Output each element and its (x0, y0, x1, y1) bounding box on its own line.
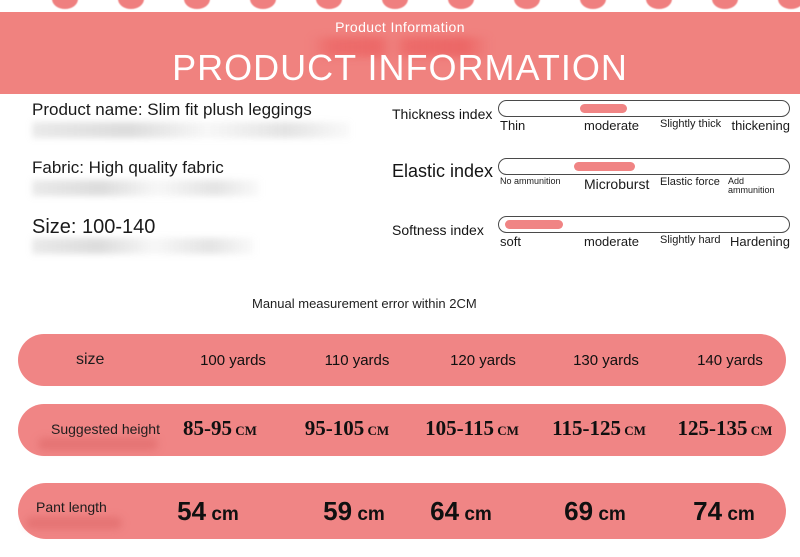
size-table-row-label: size (76, 351, 104, 369)
size-table-row-label: Pant length (36, 499, 107, 515)
size-table-cell-value: 115-125 (552, 416, 621, 440)
index-bar-label: Elastic index (392, 161, 493, 182)
size-table-cell-value: 95-105 (305, 416, 365, 440)
index-bar-scale: softmoderateSlightly hardHardening (498, 235, 790, 257)
scallop-dot (52, 0, 78, 9)
index-bar-scale-label: Slightly hard (660, 235, 721, 247)
size-table-cell-value: 105-115 (425, 416, 494, 440)
size-table-cell: 64 cm (430, 496, 492, 527)
index-bar-scale-label: moderate (584, 119, 639, 133)
size-table-cell-value: 140 yards (697, 352, 763, 369)
measurement-note: Manual measurement error within 2CM (252, 296, 477, 311)
size-table-cell: 120 yards (450, 352, 516, 369)
size-table-cell-value: 125-135 (678, 416, 748, 440)
index-bar-scale-label: soft (500, 235, 521, 249)
size-table-cell-value: 74 (693, 496, 722, 526)
product-info-line: Size: 100-140 (32, 216, 382, 239)
size-table-cell-unit: CM (232, 423, 257, 438)
size-table-cell-value: 59 (323, 496, 352, 526)
header-subtitle: Product Information (0, 19, 800, 35)
redaction-blur (26, 517, 122, 529)
size-table-cell-value: 64 (430, 496, 459, 526)
index-bars: Thickness indexThinmoderateSlightly thic… (392, 100, 792, 274)
size-table-cell-value: 69 (564, 496, 593, 526)
redaction-blur (38, 438, 158, 450)
size-table-row-label: Suggested height (51, 421, 160, 437)
index-bar-label: Softness index (392, 222, 484, 238)
redaction-blur (32, 180, 260, 196)
size-table-row-length: Pant length54 cm59 cm64 cm69 cm74 cm (18, 483, 786, 539)
size-table-row-height: Suggested height85-95 CM95-105 CM105-115… (18, 404, 786, 456)
index-bar-track[interactable] (498, 216, 790, 233)
size-table-cell: 59 cm (323, 496, 385, 527)
size-table-row-size: size100 yards110 yards120 yards130 yards… (18, 334, 786, 386)
size-table-cell: 115-125 CM (552, 416, 646, 441)
scallop-dot (580, 0, 606, 9)
index-bar-track[interactable] (498, 158, 790, 175)
size-table-cell-unit: cm (206, 504, 239, 525)
redaction-blur (32, 122, 350, 138)
scallop-dot (250, 0, 276, 9)
size-table-cell-unit: cm (722, 504, 755, 525)
size-table-cell: 69 cm (564, 496, 626, 527)
product-info-text: Fabric: High quality fabric (32, 158, 382, 178)
size-table-cell: 95-105 CM (305, 416, 389, 441)
size-table-cell: 85-95 CM (183, 416, 257, 441)
size-table-cell-value: 110 yards (325, 352, 390, 369)
index-bar-scale-label: No ammunition (500, 177, 562, 186)
scallop-dot (184, 0, 210, 9)
index-bar-scale-label: moderate (584, 235, 639, 249)
size-table-cell: 100 yards (200, 352, 266, 369)
index-bar-row: Thickness indexThinmoderateSlightly thic… (392, 100, 792, 158)
product-info-line: Fabric: High quality fabric (32, 158, 382, 178)
scallop-dot (514, 0, 540, 9)
size-table-cell: 125-135 CM (678, 416, 773, 441)
product-info-text: Size: 100-140 (32, 216, 382, 239)
size-table-cell: 74 cm (693, 496, 755, 527)
scallop-dot (316, 0, 342, 9)
size-table-cell: 140 yards (697, 352, 763, 369)
product-info-text: Product name: Slim fit plush leggings (32, 100, 382, 120)
scallop-dot (778, 0, 800, 9)
scallop-dot (712, 0, 738, 9)
index-bar-track-wrap: No ammunitionMicroburstElastic forceAdd … (498, 158, 790, 199)
index-bar-track-wrap: softmoderateSlightly hardHardening (498, 216, 790, 257)
size-table-cell: 105-115 CM (425, 416, 519, 441)
size-table-cell: 54 cm (177, 496, 239, 527)
index-bar-row: Softness indexsoftmoderateSlightly hardH… (392, 216, 792, 274)
size-table-cell-value: 100 yards (200, 352, 266, 369)
index-bar-scale-label: Hardening (730, 235, 790, 249)
index-bar-scale-label: Elastic force (660, 177, 720, 189)
index-bar-scale-label: Thin (500, 119, 525, 133)
size-table-cell: 130 yards (573, 352, 639, 369)
size-table-cell-value: 85-95 (183, 416, 232, 440)
scallop-dot-strip (0, 0, 800, 12)
scallop-dot (646, 0, 672, 9)
size-table-cell-unit: cm (459, 504, 492, 525)
index-bar-scale-label: Add ammunition (728, 177, 790, 196)
index-bar-label: Thickness index (392, 106, 492, 122)
page-title: PRODUCT INFORMATION (0, 47, 800, 89)
product-info-line: Product name: Slim fit plush leggings (32, 100, 382, 120)
scallop-dot (118, 0, 144, 9)
page-header: Product Information PRODUCT INFORMATION (0, 11, 800, 94)
index-bar-row: Elastic indexNo ammunitionMicroburstElas… (392, 158, 792, 216)
size-table-cell: 110 yards (325, 352, 390, 369)
size-table-cell-value: 54 (177, 496, 206, 526)
index-bar-scale: ThinmoderateSlightly thickthickening (498, 119, 790, 141)
size-table-cell-unit: CM (621, 423, 646, 438)
index-bar-scale: No ammunitionMicroburstElastic forceAdd … (498, 177, 790, 199)
index-bar-scale-label: Microburst (584, 177, 649, 192)
size-table-cell-unit: CM (494, 423, 519, 438)
redaction-blur (32, 238, 254, 254)
size-table-cell-unit: CM (364, 423, 389, 438)
size-table-cell-unit: cm (593, 504, 626, 525)
size-table-cell-unit: cm (352, 504, 385, 525)
index-bar-marker[interactable] (574, 162, 635, 171)
scallop-dot (382, 0, 408, 9)
index-bar-track[interactable] (498, 100, 790, 117)
index-bar-marker[interactable] (505, 220, 563, 229)
index-bar-track-wrap: ThinmoderateSlightly thickthickening (498, 100, 790, 141)
index-bar-scale-label: Slightly thick (660, 119, 721, 131)
scallop-dot (448, 0, 474, 9)
index-bar-scale-label: thickening (731, 119, 790, 133)
product-info-list: Product name: Slim fit plush leggingsFab… (32, 100, 382, 277)
size-table-cell-value: 120 yards (450, 352, 516, 369)
index-bar-marker[interactable] (580, 104, 626, 113)
size-table-cell-unit: CM (748, 423, 773, 438)
size-table-cell-value: 130 yards (573, 352, 639, 369)
